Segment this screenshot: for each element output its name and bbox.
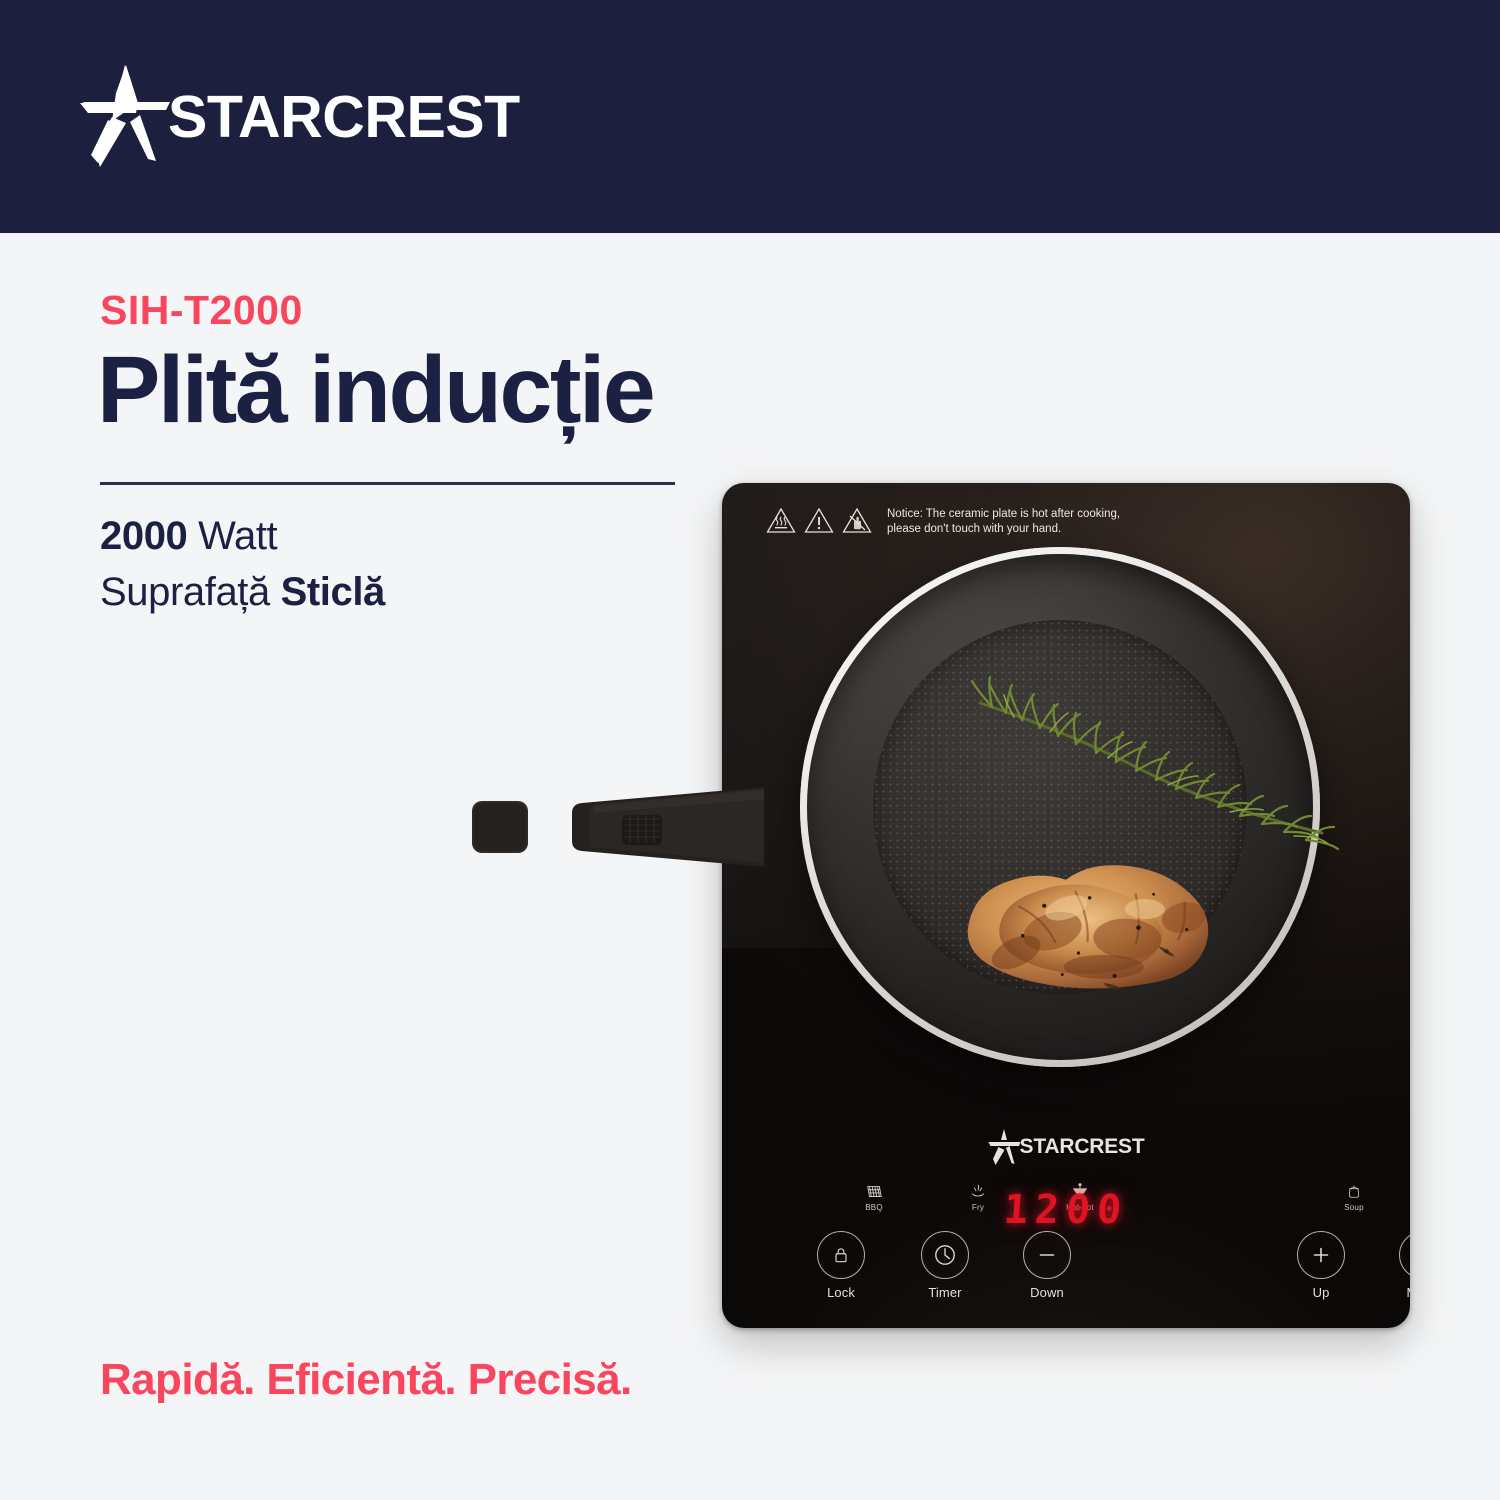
spec-power-value: 2000: [100, 514, 187, 558]
brand-logo: STARCREST: [78, 62, 520, 172]
header-band: STARCREST: [0, 0, 1500, 233]
pan-photo-layer: [722, 483, 1410, 1328]
title-divider: [100, 482, 675, 485]
spec-surface-value: Sticlă: [281, 570, 385, 614]
product-sku: SIH-T2000: [100, 287, 303, 334]
brand-name: STARCREST: [168, 83, 520, 151]
rosemary-sprig: [962, 667, 1342, 857]
spec-surface: Suprafață Sticlă: [100, 570, 385, 615]
pan-handle: [464, 779, 764, 875]
frying-pan: [800, 547, 1320, 1067]
page-title: Plită inducție: [97, 340, 653, 441]
product-marketing-card: STARCREST SIH-T2000 Plită inducție 2000 …: [0, 0, 1500, 1500]
seared-pork-steak: [943, 826, 1257, 1021]
star-logo-icon: [78, 63, 174, 171]
tagline: Rapidă. Eficientă. Precisă.: [100, 1355, 632, 1405]
spec-power-unit: Watt: [187, 514, 277, 558]
spec-power: 2000 Watt: [100, 514, 277, 559]
spec-surface-label: Suprafață: [100, 570, 281, 614]
